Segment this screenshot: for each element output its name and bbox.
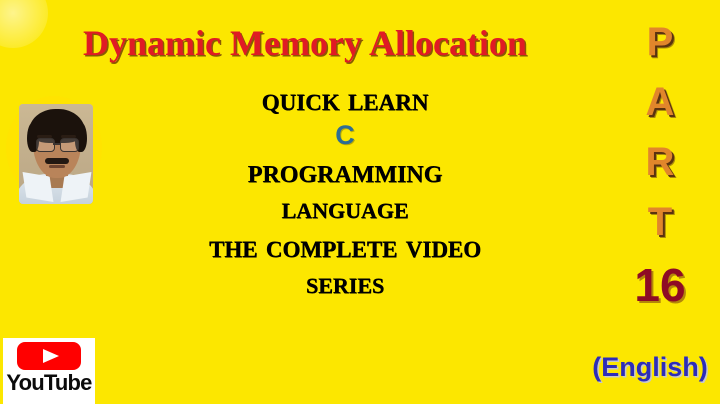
presenter-photo <box>19 104 93 204</box>
play-triangle-icon <box>43 349 59 363</box>
eyeglasses-lens-right <box>60 138 79 152</box>
text-line-language: Language <box>95 191 595 223</box>
youtube-wordmark: YouTube <box>6 372 91 394</box>
text-line-the-complete-video: The Complete Video <box>95 231 595 264</box>
language-badge: (English) <box>580 352 720 383</box>
part-number: 16 <box>612 262 708 308</box>
youtube-play-icon <box>17 342 81 370</box>
text-line-programming: Programming <box>95 155 595 189</box>
part-letter-t: T <box>612 202 708 242</box>
text-line-quick-learn: Quick Learn <box>95 84 595 117</box>
photo-mouth <box>49 165 65 168</box>
text-line-series: Series <box>95 266 595 298</box>
page-title: Dynamic Memory Allocation <box>0 22 610 64</box>
eyeglasses-lens-left <box>36 138 55 152</box>
video-thumbnail-slide: Dynamic Memory Allocation Quick Learn C … <box>0 0 720 404</box>
part-letter-p: P <box>612 22 708 62</box>
youtube-logo[interactable]: YouTube <box>3 338 95 404</box>
eyeglasses-bridge <box>53 143 60 145</box>
avatar <box>6 96 102 208</box>
part-letter-a: A <box>612 82 708 122</box>
text-line-c: C <box>95 122 595 149</box>
main-text-block: Quick Learn C Programming Language The C… <box>95 84 595 298</box>
photo-mustache <box>45 158 69 164</box>
part-letter-r: R <box>612 142 708 182</box>
part-column: P A R T 16 <box>612 22 708 308</box>
